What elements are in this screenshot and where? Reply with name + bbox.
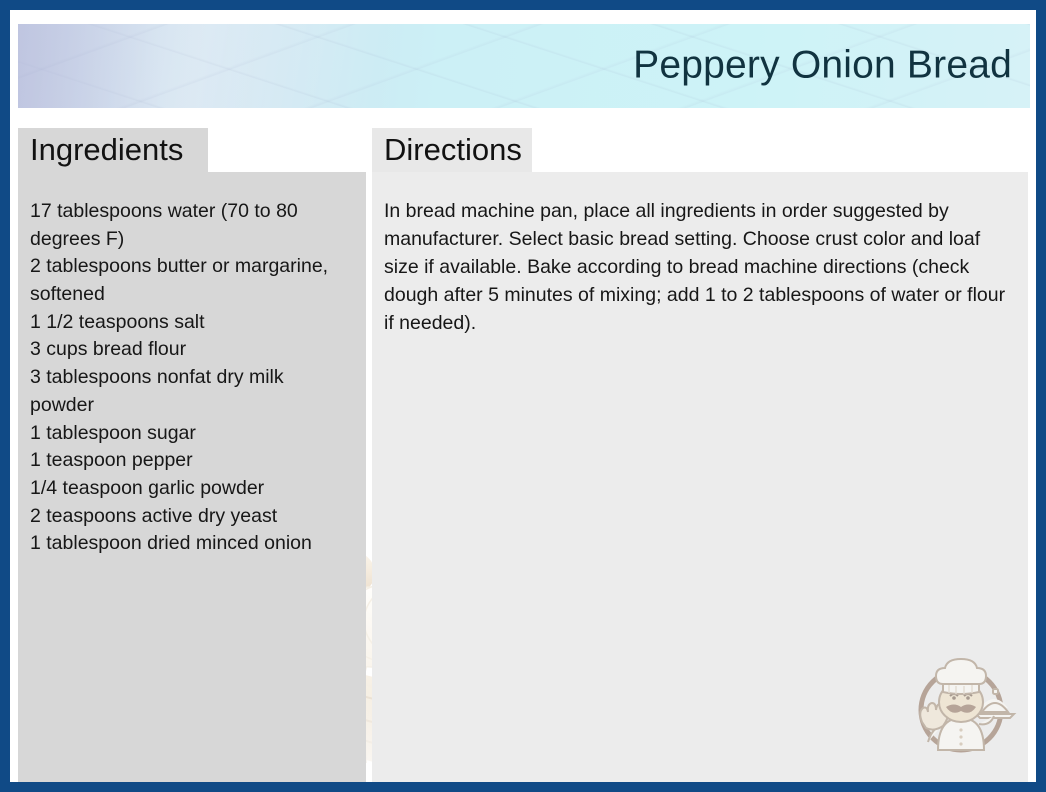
directions-column: Directions In bread machine pan, place a… xyxy=(372,128,1028,782)
directions-heading: Directions xyxy=(384,132,522,168)
title-banner: Peppery Onion Bread xyxy=(18,24,1030,108)
ingredients-heading: Ingredients xyxy=(30,132,183,168)
ingredients-list: 17 tablespoons water (70 to 80 degrees F… xyxy=(30,198,352,558)
list-item: 2 tablespoons butter or margarine, softe… xyxy=(30,253,352,308)
ingredients-column: Ingredients 17 tablespoons water (70 to … xyxy=(18,128,366,782)
slide-canvas: Peppery Onion Bread xyxy=(10,10,1036,782)
list-item: 17 tablespoons water (70 to 80 degrees F… xyxy=(30,198,352,253)
recipe-slide: Peppery Onion Bread xyxy=(0,0,1046,792)
page-title: Peppery Onion Bread xyxy=(633,46,1012,87)
directions-body: In bread machine pan, place all ingredie… xyxy=(372,172,1028,782)
list-item: 1 teaspoon pepper xyxy=(30,447,352,475)
list-item: 1 tablespoon sugar xyxy=(30,420,352,448)
list-item: 3 tablespoons nonfat dry milk powder xyxy=(30,364,352,419)
directions-heading-tab: Directions xyxy=(372,128,532,172)
list-item: 1/4 teaspoon garlic powder xyxy=(30,475,352,503)
directions-text: In bread machine pan, place all ingredie… xyxy=(384,198,1006,337)
list-item: 1 tablespoon dried minced onion xyxy=(30,530,352,558)
list-item: 1 1/2 teaspoons salt xyxy=(30,309,352,337)
list-item: 2 teaspoons active dry yeast xyxy=(30,503,352,531)
ingredients-body: 17 tablespoons water (70 to 80 degrees F… xyxy=(18,172,366,782)
ingredients-heading-tab: Ingredients xyxy=(18,128,208,172)
list-item: 3 cups bread flour xyxy=(30,336,352,364)
